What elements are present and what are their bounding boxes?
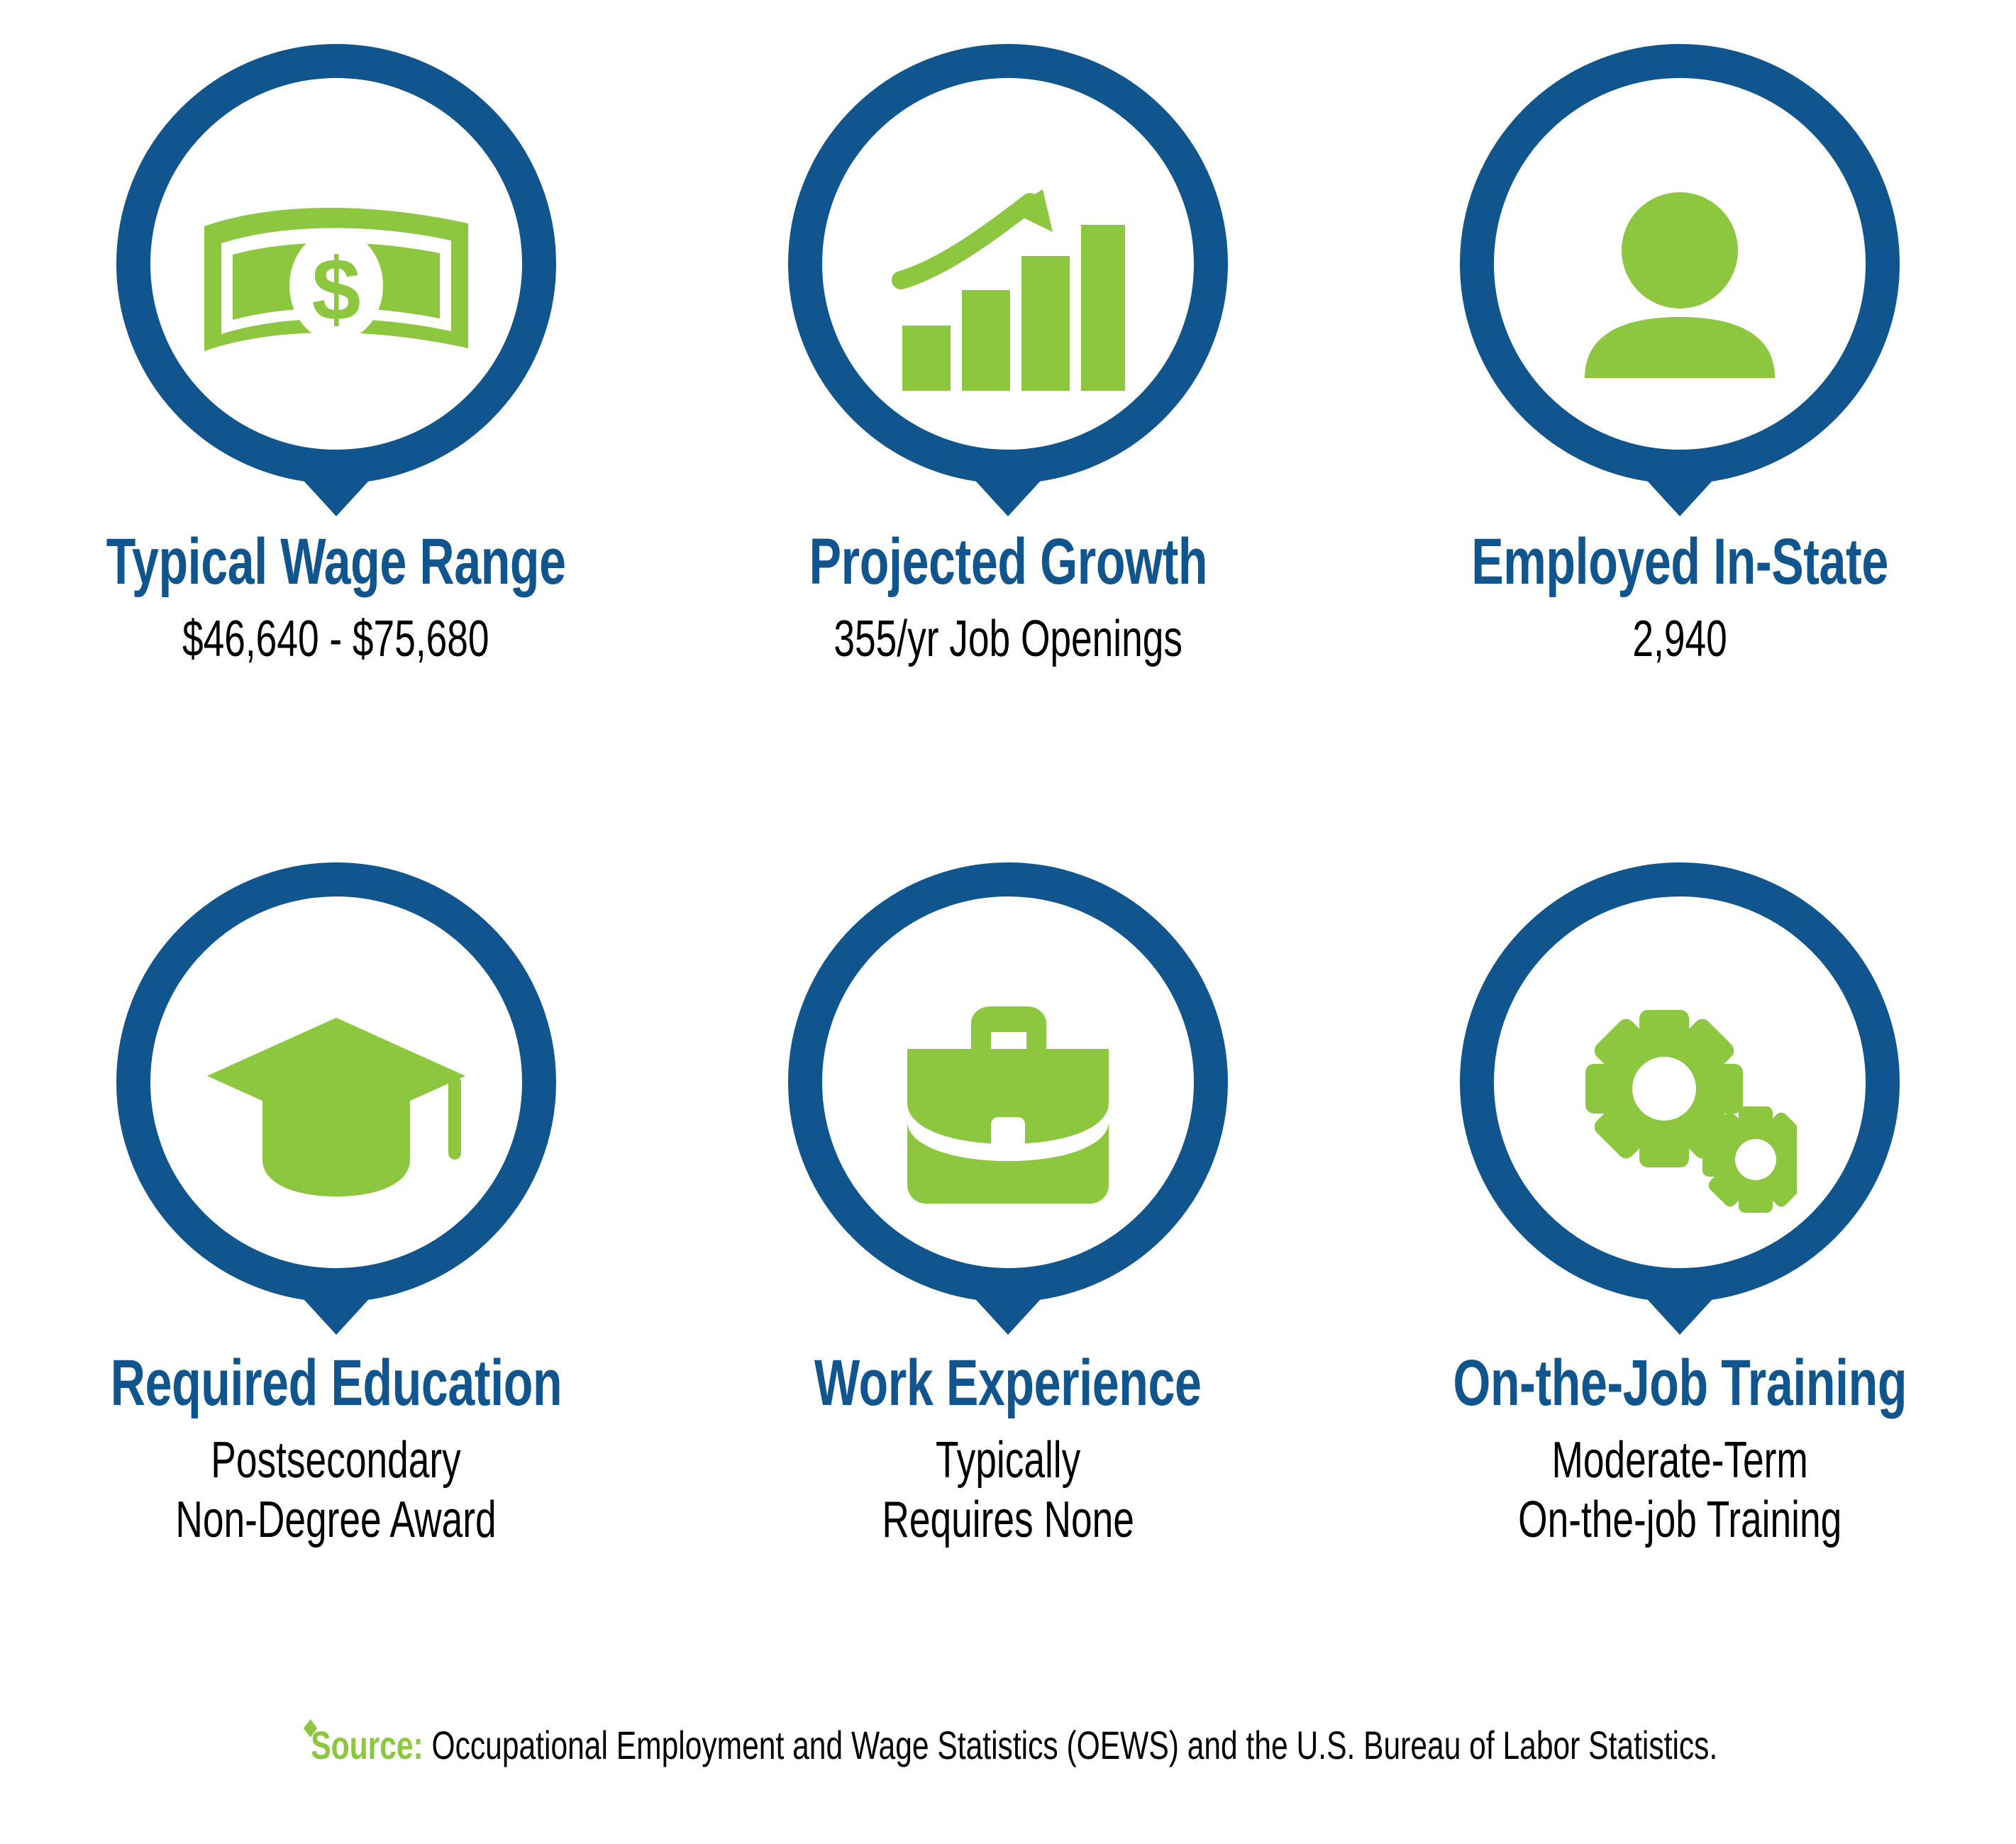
badge-on-the-job-training [1456,858,1904,1355]
badge-pin-tail [289,465,383,516]
card-subtitle-line: Postsecondary [176,1431,497,1491]
badge-work-experience [784,858,1232,1355]
stat-card-typical-wage-range: $ Typical Wage Range $46,640 - $75,680 [0,0,672,670]
card-subtitle-line: Moderate-Term [1518,1431,1841,1491]
stat-card-employed-in-state: Employed In-State 2,940 [1344,0,2016,670]
card-title: Projected Growth [809,529,1207,594]
card-subtitle-line: 2,940 [1633,610,1727,670]
stat-card-projected-growth: Projected Growth 355/yr Job Openings [672,0,1344,670]
briefcase-icon [866,979,1150,1234]
infographic-root: $ Typical Wage Range $46,640 - $75,680 [0,0,2016,1844]
badge-pin-tail [961,1284,1055,1335]
gears-icon [1538,979,1822,1234]
card-title: Typical Wage Range [106,529,566,594]
card-subtitle: 355/yr Job Openings [833,610,1183,670]
badge-required-education [112,858,560,1355]
card-title: Required Education [110,1350,561,1416]
card-subtitle: $46,640 - $75,680 [182,610,489,670]
card-subtitle-line: Typically [882,1431,1134,1491]
badge-pin-tail [1633,465,1727,516]
stat-card-work-experience: Work Experience Typically Requires None [672,823,1344,1550]
badge-employed-in-state [1456,40,1904,536]
stat-card-on-the-job-training: On-the-Job Training Moderate-Term On-the… [1344,823,2016,1550]
card-title: Work Experience [814,1350,1202,1416]
card-subtitle: Typically Requires None [882,1431,1134,1550]
badge-pin-tail [1633,1284,1727,1335]
card-subtitle-line: $46,640 - $75,680 [182,610,489,670]
card-title: Employed In-State [1472,529,1889,594]
source-footnote: Source: Occupational Employment and Wage… [0,1723,2016,1767]
graduation-cap-icon [194,979,478,1234]
badge-pin-tail [289,1284,383,1335]
card-subtitle-line: On-the-job Training [1518,1491,1841,1550]
source-label: Source: [311,1723,423,1767]
card-subtitle: Moderate-Term On-the-job Training [1518,1431,1841,1550]
money-bill-icon: $ [194,160,478,416]
stat-card-required-education: Required Education Postsecondary Non-Deg… [0,823,672,1550]
card-subtitle-line: 355/yr Job Openings [833,610,1183,670]
stats-row-2: Required Education Postsecondary Non-Deg… [0,823,2016,1550]
card-subtitle-line: Non-Degree Award [176,1491,497,1550]
badge-projected-growth [784,40,1232,536]
card-subtitle: 2,940 [1633,610,1727,670]
stats-row-1: $ Typical Wage Range $46,640 - $75,680 [0,0,2016,670]
card-subtitle: Postsecondary Non-Degree Award [176,1431,497,1550]
badge-typical-wage-range: $ [112,40,560,536]
person-icon [1538,160,1822,416]
source-footnote-inner: Source: Occupational Employment and Wage… [298,1723,1717,1767]
badge-pin-tail [961,465,1055,516]
card-subtitle-line: Requires None [882,1491,1134,1550]
svg-text:$: $ [311,241,360,339]
card-title: On-the-Job Training [1453,1350,1907,1416]
bar-chart-growth-icon [866,160,1150,416]
source-text: Occupational Employment and Wage Statist… [423,1723,1718,1767]
